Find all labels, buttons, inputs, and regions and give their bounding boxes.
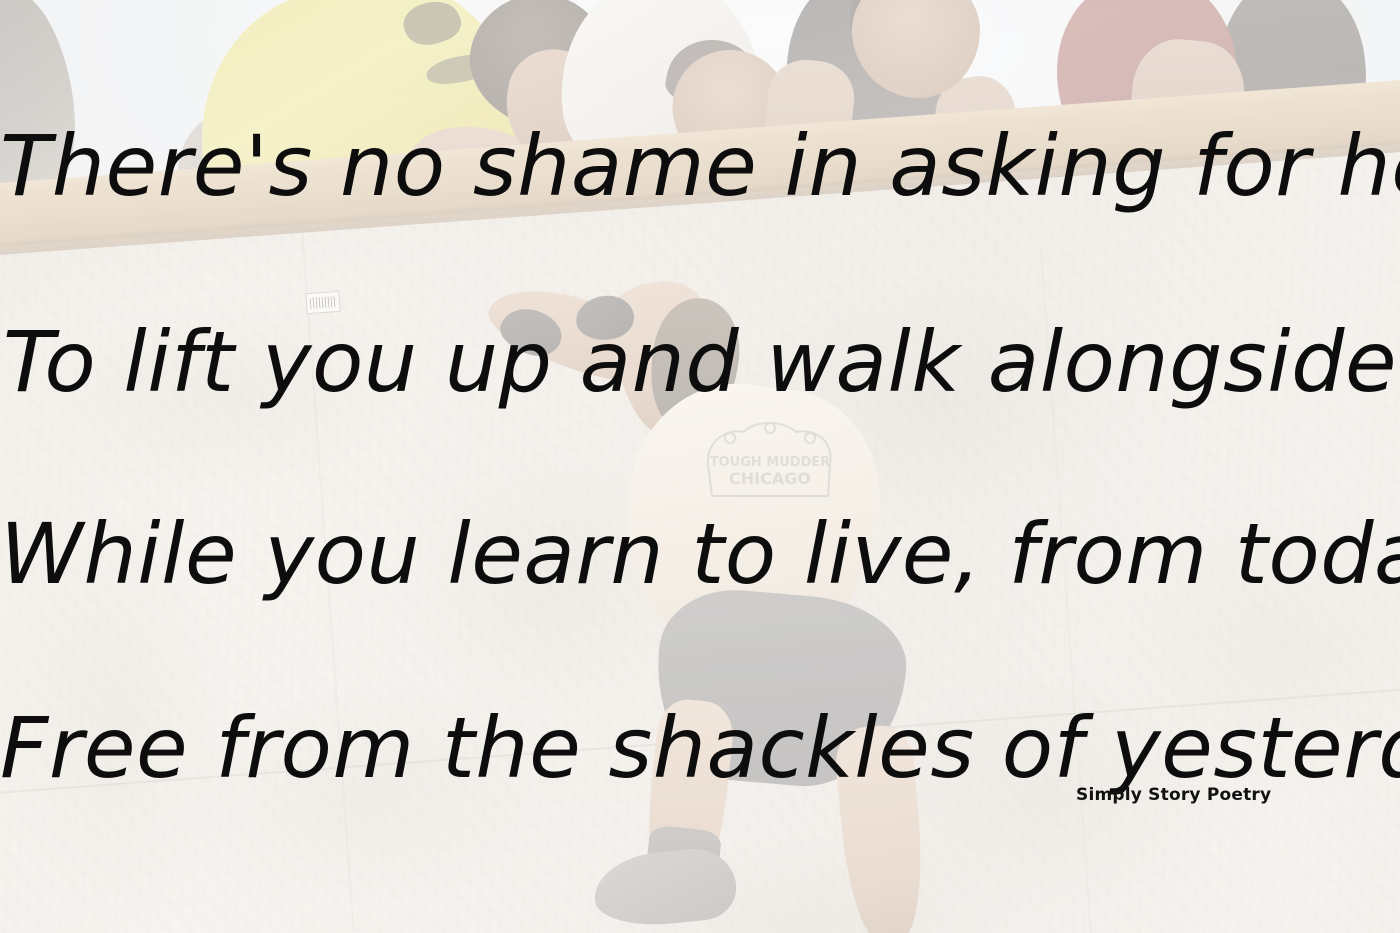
poem-line-2: To lift you up and walk alongside bbox=[0, 320, 1400, 404]
quote-card: TOUGH MUDDER CHICAGO There's no shame in… bbox=[0, 0, 1400, 933]
poem-line-4: Free from the shackles of yesterday bbox=[0, 706, 1400, 790]
watermark-simply-story-poetry: Simply Story Poetry bbox=[1076, 785, 1271, 805]
poem-line-1: There's no shame in asking for help bbox=[0, 124, 1400, 208]
poem-line-3: While you learn to live, from today, bbox=[0, 512, 1400, 596]
